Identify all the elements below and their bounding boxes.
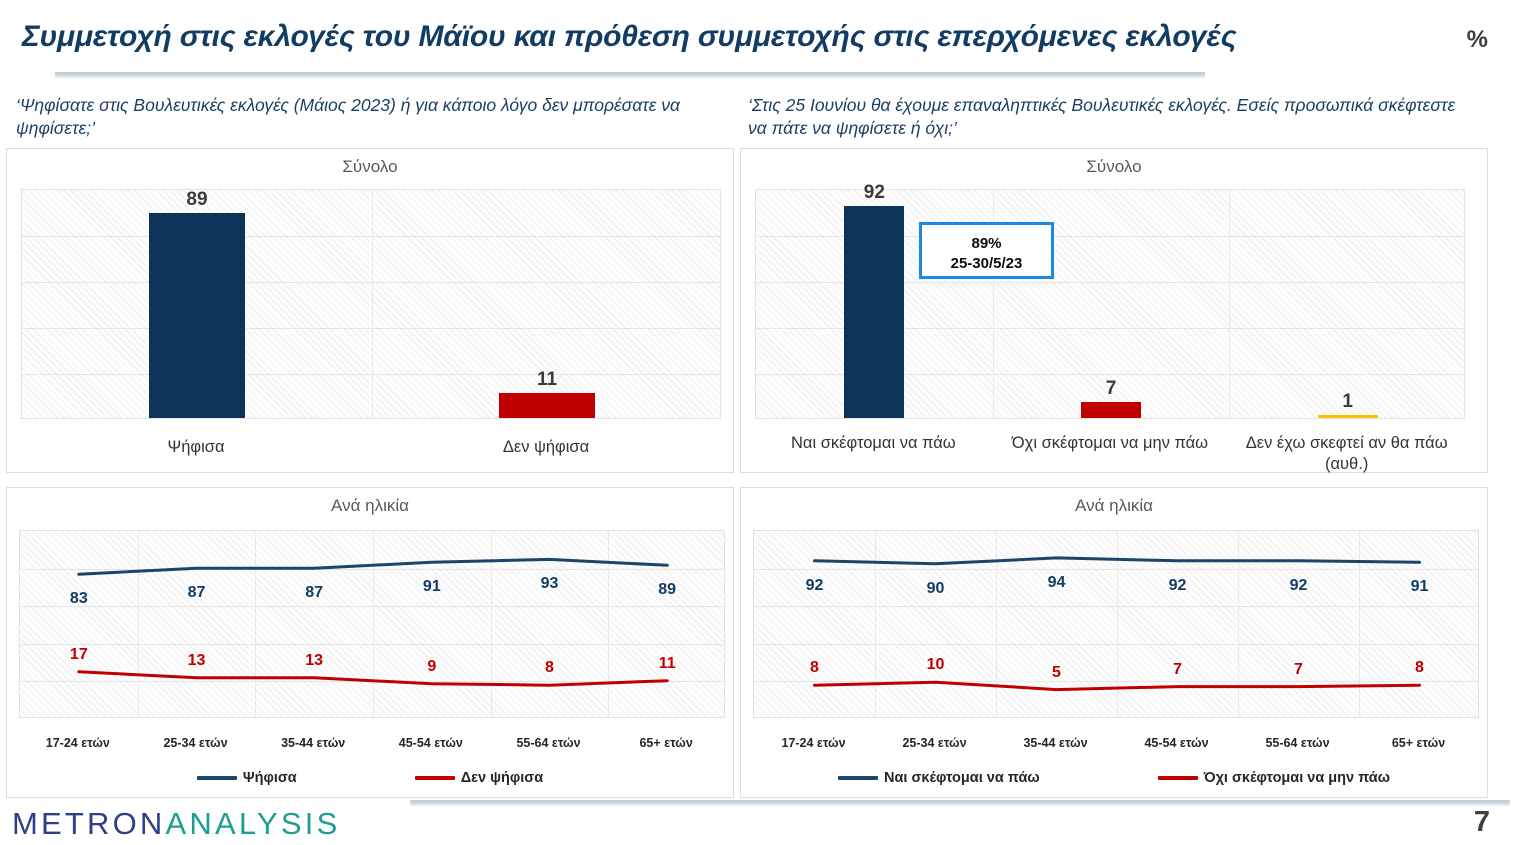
x-axis-tick-label: 17-24 ετών (18, 736, 138, 750)
point-value-label: 91 (408, 578, 456, 596)
page-number: 7 (1474, 806, 1490, 839)
chart-panel-top-right: Σύνολο 9271 89% 25-30/5/23 Ναι σκέφτομαι… (740, 148, 1488, 473)
x-axis-tick-label: 35-44 ετών (996, 736, 1116, 750)
point-value-label: 87 (290, 584, 338, 602)
series-line-0 (815, 558, 1420, 564)
bar-top-left-0 (149, 213, 245, 418)
legend-label: Ναι σκέφτομαι να πάω (884, 770, 1040, 786)
point-value-label: 7 (1275, 661, 1323, 679)
point-value-label: 8 (791, 659, 839, 677)
line-series-svg (20, 531, 726, 719)
point-value-label: 93 (526, 575, 574, 593)
bar-value-label: 92 (829, 182, 919, 204)
bar-value-label: 89 (152, 189, 242, 211)
bar-category-label: Όχι σκέφτομαι να μην πάω (1005, 433, 1215, 454)
legend-bottom-right: Ναι σκέφτομαι να πάωΌχι σκέφτομαι να μην… (741, 770, 1487, 786)
point-value-label: 7 (1154, 661, 1202, 679)
footer-divider (410, 800, 1510, 806)
x-axis-tick-label: 65+ ετών (1359, 736, 1479, 750)
point-value-label: 92 (791, 577, 839, 595)
point-value-label: 90 (912, 580, 960, 598)
point-value-label: 13 (290, 652, 338, 670)
x-axis-tick-label: 55-64 ετών (489, 736, 609, 750)
bar-top-right-1 (1081, 402, 1141, 418)
legend-label: Ψήφισα (243, 770, 297, 786)
gridline (22, 236, 720, 237)
question-left: ‘Ψηφίσατε στις Βουλευτικές εκλογές (Μάιο… (16, 94, 716, 140)
bar-category-label: Δεν ψήφισα (436, 437, 656, 458)
chart-panel-bottom-right: Ανά ηλικία 9290949292918105778 Ναι σκέφτ… (740, 487, 1488, 798)
bar-value-label: 1 (1303, 391, 1393, 413)
plot-area-bottom-right: 9290949292918105778 (753, 530, 1479, 718)
callout-value: 89% (922, 234, 1051, 254)
point-value-label: 92 (1154, 577, 1202, 595)
legend-swatch-icon (197, 776, 237, 780)
title-divider (55, 72, 1205, 78)
chart-title-bottom-right: Ανά ηλικία (741, 496, 1487, 516)
series-line-0 (79, 559, 667, 574)
chart-title-top-right: Σύνολο (741, 157, 1487, 177)
legend-label: Όχι σκέφτομαι να μην πάω (1204, 770, 1390, 786)
metron-analysis-logo: METRONANALYSIS (12, 806, 340, 842)
x-axis-tick-label: 55-64 ετών (1238, 736, 1358, 750)
x-axis-tick-label: 65+ ετών (606, 736, 726, 750)
gridline (22, 282, 720, 283)
line-series-svg (754, 531, 1480, 719)
series-line-1 (79, 672, 667, 685)
logo-metron: METRON (12, 806, 166, 841)
bar-top-right-2 (1318, 415, 1378, 418)
chart-panel-top-left: Σύνολο 8911 ΨήφισαΔεν ψήφισα (6, 148, 734, 473)
point-value-label: 94 (1033, 574, 1081, 592)
gridline-vertical (1229, 190, 1230, 418)
x-axis-tick-label: 25-34 ετών (875, 736, 995, 750)
point-value-label: 92 (1275, 577, 1323, 595)
point-value-label: 11 (643, 655, 691, 673)
percent-unit-label: % (1467, 26, 1488, 54)
bar-top-left-1 (499, 393, 595, 418)
plot-area-top-left: 8911 (21, 189, 721, 419)
point-value-label: 13 (173, 652, 221, 670)
legend-item-1[interactable]: Δεν ψήφισα (415, 770, 543, 786)
x-axis-tick-label: 45-54 ετών (1117, 736, 1237, 750)
legend-swatch-icon (1158, 776, 1198, 780)
point-value-label: 83 (55, 590, 103, 608)
point-value-label: 8 (1396, 659, 1444, 677)
callout-date: 25-30/5/23 (922, 254, 1051, 274)
bar-value-label: 11 (502, 369, 592, 391)
question-right: ‘Στις 25 Ιουνίου θα έχουμε επαναληπτικές… (748, 94, 1458, 140)
legend-label: Δεν ψήφισα (461, 770, 543, 786)
bar-value-label: 7 (1066, 378, 1156, 400)
logo-analysis: ANALYSIS (166, 806, 341, 841)
legend-item-0[interactable]: Ψήφισα (197, 770, 297, 786)
point-value-label: 9 (408, 658, 456, 676)
x-axis-tick-label: 35-44 ετών (253, 736, 373, 750)
point-value-label: 17 (55, 646, 103, 664)
bar-top-right-0 (844, 206, 904, 418)
bar-category-label: Δεν έχω σκεφτεί αν θα πάω (αυθ.) (1242, 433, 1452, 474)
gridline-vertical (372, 190, 373, 418)
chart-title-bottom-left: Ανά ηλικία (7, 496, 733, 516)
legend-bottom-left: ΨήφισαΔεν ψήφισα (7, 770, 733, 786)
gridline (22, 328, 720, 329)
slide: Συμμετοχή στις εκλογές του Μάϊου και πρό… (0, 0, 1514, 845)
point-value-label: 89 (643, 581, 691, 599)
point-value-label: 91 (1396, 578, 1444, 596)
x-axis-tick-label: 45-54 ετών (371, 736, 491, 750)
point-value-label: 8 (526, 659, 574, 677)
x-axis-tick-label: 25-34 ετών (136, 736, 256, 750)
bar-category-label: Ναι σκέφτομαι να πάω (768, 433, 978, 454)
plot-area-top-right: 9271 (755, 189, 1465, 419)
point-value-label: 87 (173, 584, 221, 602)
page-title: Συμμετοχή στις εκλογές του Μάϊου και πρό… (22, 20, 1382, 54)
legend-item-1[interactable]: Όχι σκέφτομαι να μην πάω (1158, 770, 1390, 786)
bar-category-label: Ψήφισα (86, 437, 306, 458)
point-value-label: 5 (1033, 664, 1081, 682)
legend-swatch-icon (415, 776, 455, 780)
x-axis-tick-label: 17-24 ετών (754, 736, 874, 750)
legend-swatch-icon (838, 776, 878, 780)
plot-area-bottom-left: 8387879193891713139811 (19, 530, 725, 718)
chart-title-top-left: Σύνολο (7, 157, 733, 177)
point-value-label: 10 (912, 656, 960, 674)
series-line-1 (815, 682, 1420, 689)
legend-item-0[interactable]: Ναι σκέφτομαι να πάω (838, 770, 1040, 786)
gridline (22, 374, 720, 375)
slide-header: Συμμετοχή στις εκλογές του Μάϊου και πρό… (0, 0, 1514, 86)
chart-panel-bottom-left: Ανά ηλικία 8387879193891713139811 Ψήφισα… (6, 487, 734, 798)
callout-previous-wave: 89% 25-30/5/23 (919, 222, 1054, 279)
